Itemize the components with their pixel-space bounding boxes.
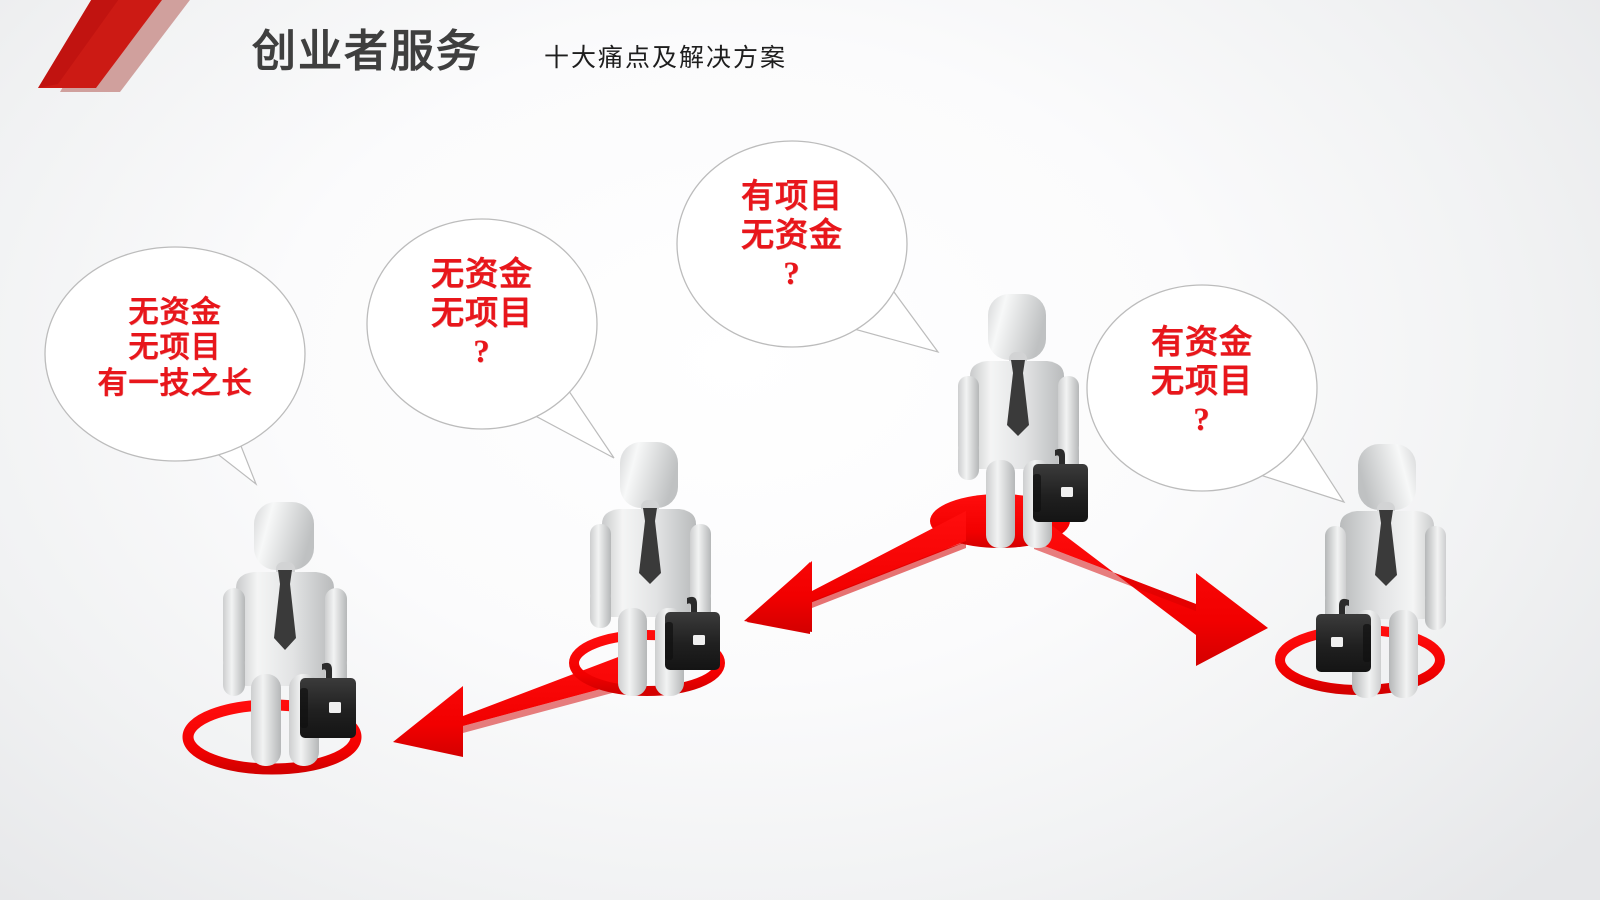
arrow-center-to-middle [744,511,966,634]
speech-bubble-4[interactable]: 有资金 无项目 ? [1086,284,1318,492]
figure-top [936,290,1104,548]
speech-bubble-2[interactable]: 无资金 无项目 ? [366,218,598,430]
diagram-stage: 无资金 无项目 有一技之长 无资金 无项目 ? 有项目 无资 [0,0,1600,900]
figure-middle [568,438,736,696]
speech-bubble-1[interactable]: 无资金 无项目 有一技之长 [44,246,306,462]
figure-left [196,496,374,774]
speech-bubble-3[interactable]: 有项目 无资金 ? [676,140,908,348]
slide-canvas: 创业者服务 十大痛点及解决方案 [0,0,1600,900]
